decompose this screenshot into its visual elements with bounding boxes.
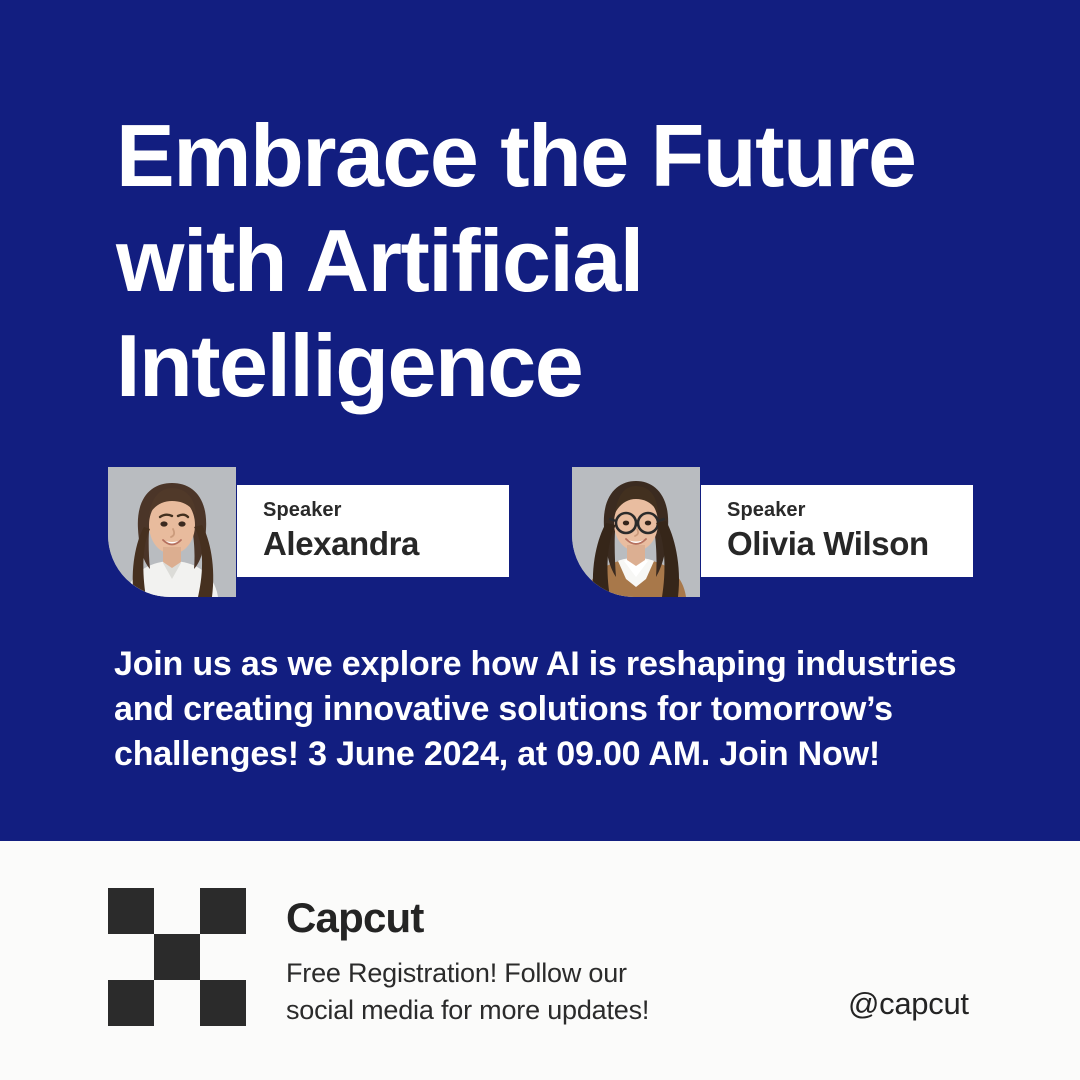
speaker-role-label: Speaker — [263, 498, 509, 522]
speaker-name: Olivia Wilson — [727, 524, 973, 564]
logo-cell — [200, 934, 246, 980]
speaker-name-plate: Speaker Olivia Wilson — [701, 485, 973, 577]
speaker-portrait-alexandra-icon — [108, 467, 236, 597]
logo-cell — [108, 934, 154, 980]
logo-cell — [154, 934, 200, 980]
brand-name: Capcut — [286, 893, 766, 943]
page-title: Embrace the Future with Artificial Intel… — [116, 103, 1016, 418]
logo-cell — [108, 888, 154, 934]
speaker-name: Alexandra — [263, 524, 509, 564]
logo-cell — [154, 980, 200, 1026]
logo-cell — [200, 980, 246, 1026]
speaker-portrait-olivia-wilson-icon — [572, 467, 700, 597]
logo-cell — [108, 980, 154, 1026]
brand-tagline: Free Registration! Follow our social med… — [286, 955, 766, 1029]
checkerboard-x-logo-icon — [108, 888, 246, 1026]
hero-panel: Embrace the Future with Artificial Intel… — [0, 0, 1080, 841]
brand-block: Capcut Free Registration! Follow our soc… — [286, 893, 766, 1029]
logo-cell — [154, 888, 200, 934]
logo-cell — [200, 888, 246, 934]
speaker-list: Speaker Alexandra — [108, 467, 1008, 599]
avatar — [108, 467, 236, 597]
social-handle[interactable]: @capcut — [848, 985, 969, 1023]
event-description: Join us as we explore how AI is reshapin… — [114, 642, 994, 777]
event-poster: Embrace the Future with Artificial Intel… — [0, 0, 1080, 1080]
speaker-card[interactable]: Speaker Alexandra — [108, 467, 508, 597]
avatar — [572, 467, 700, 597]
speaker-card[interactable]: Speaker Olivia Wilson — [572, 467, 972, 597]
speaker-name-plate: Speaker Alexandra — [237, 485, 509, 577]
speaker-role-label: Speaker — [727, 498, 973, 522]
